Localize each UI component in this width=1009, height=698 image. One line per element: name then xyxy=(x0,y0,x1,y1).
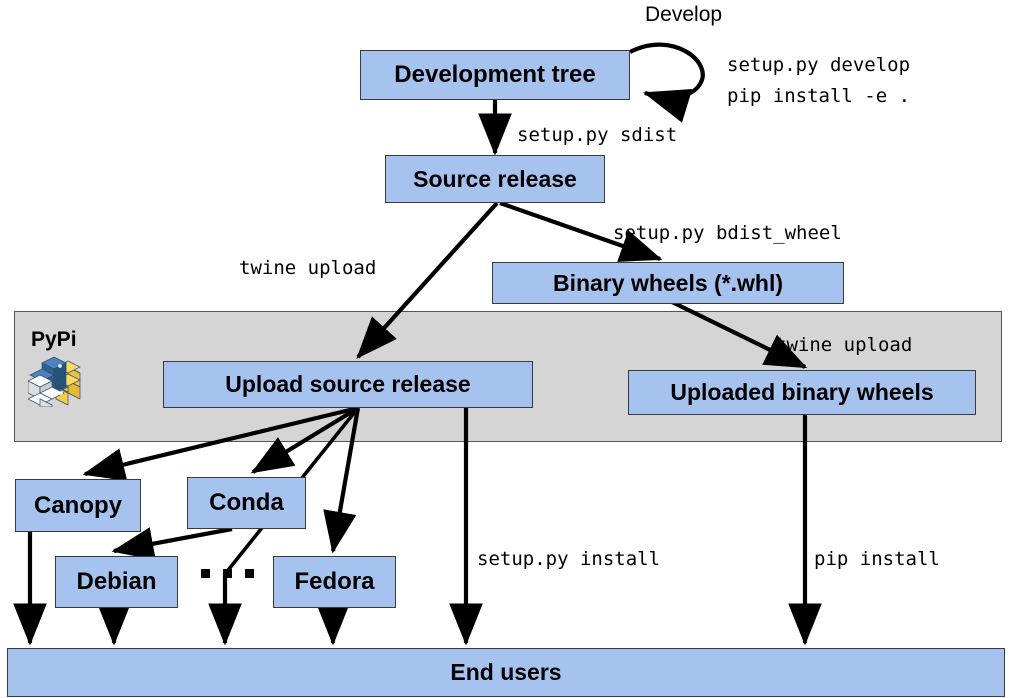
node-uploaded-binary-wheels[interactable]: Uploaded binary wheels xyxy=(628,370,976,415)
edge-label-develop: Develop xyxy=(645,3,722,27)
node-fedora[interactable]: Fedora xyxy=(273,556,396,608)
edge-label-pip-install: pip install xyxy=(814,546,940,574)
diagram-canvas: PyPi xyxy=(0,0,1009,698)
edge-label-twine-upload-wheels: twine upload xyxy=(775,332,912,360)
node-development-tree[interactable]: Development tree xyxy=(360,50,630,100)
node-debian[interactable]: Debian xyxy=(55,556,178,608)
edge-label-twine-upload-source: twine upload xyxy=(239,255,376,283)
node-binary-wheels[interactable]: Binary wheels (*.whl) xyxy=(492,262,844,304)
ellipsis-dots xyxy=(201,569,254,578)
node-conda[interactable]: Conda xyxy=(187,477,306,529)
edge-label-setup-install: setup.py install xyxy=(477,546,660,574)
node-source-release[interactable]: Source release xyxy=(385,155,605,203)
edge-label-pip-install-editable: pip install -e . xyxy=(727,83,910,111)
node-canopy[interactable]: Canopy xyxy=(15,479,141,532)
edge-label-setup-develop: setup.py develop xyxy=(727,52,910,80)
edge-label-setup-sdist: setup.py sdist xyxy=(517,122,677,150)
node-upload-source-release[interactable]: Upload source release xyxy=(163,361,533,408)
edge-label-setup-bdist-wheel: setup.py bdist_wheel xyxy=(613,220,842,248)
node-end-users[interactable]: End users xyxy=(7,648,1005,697)
